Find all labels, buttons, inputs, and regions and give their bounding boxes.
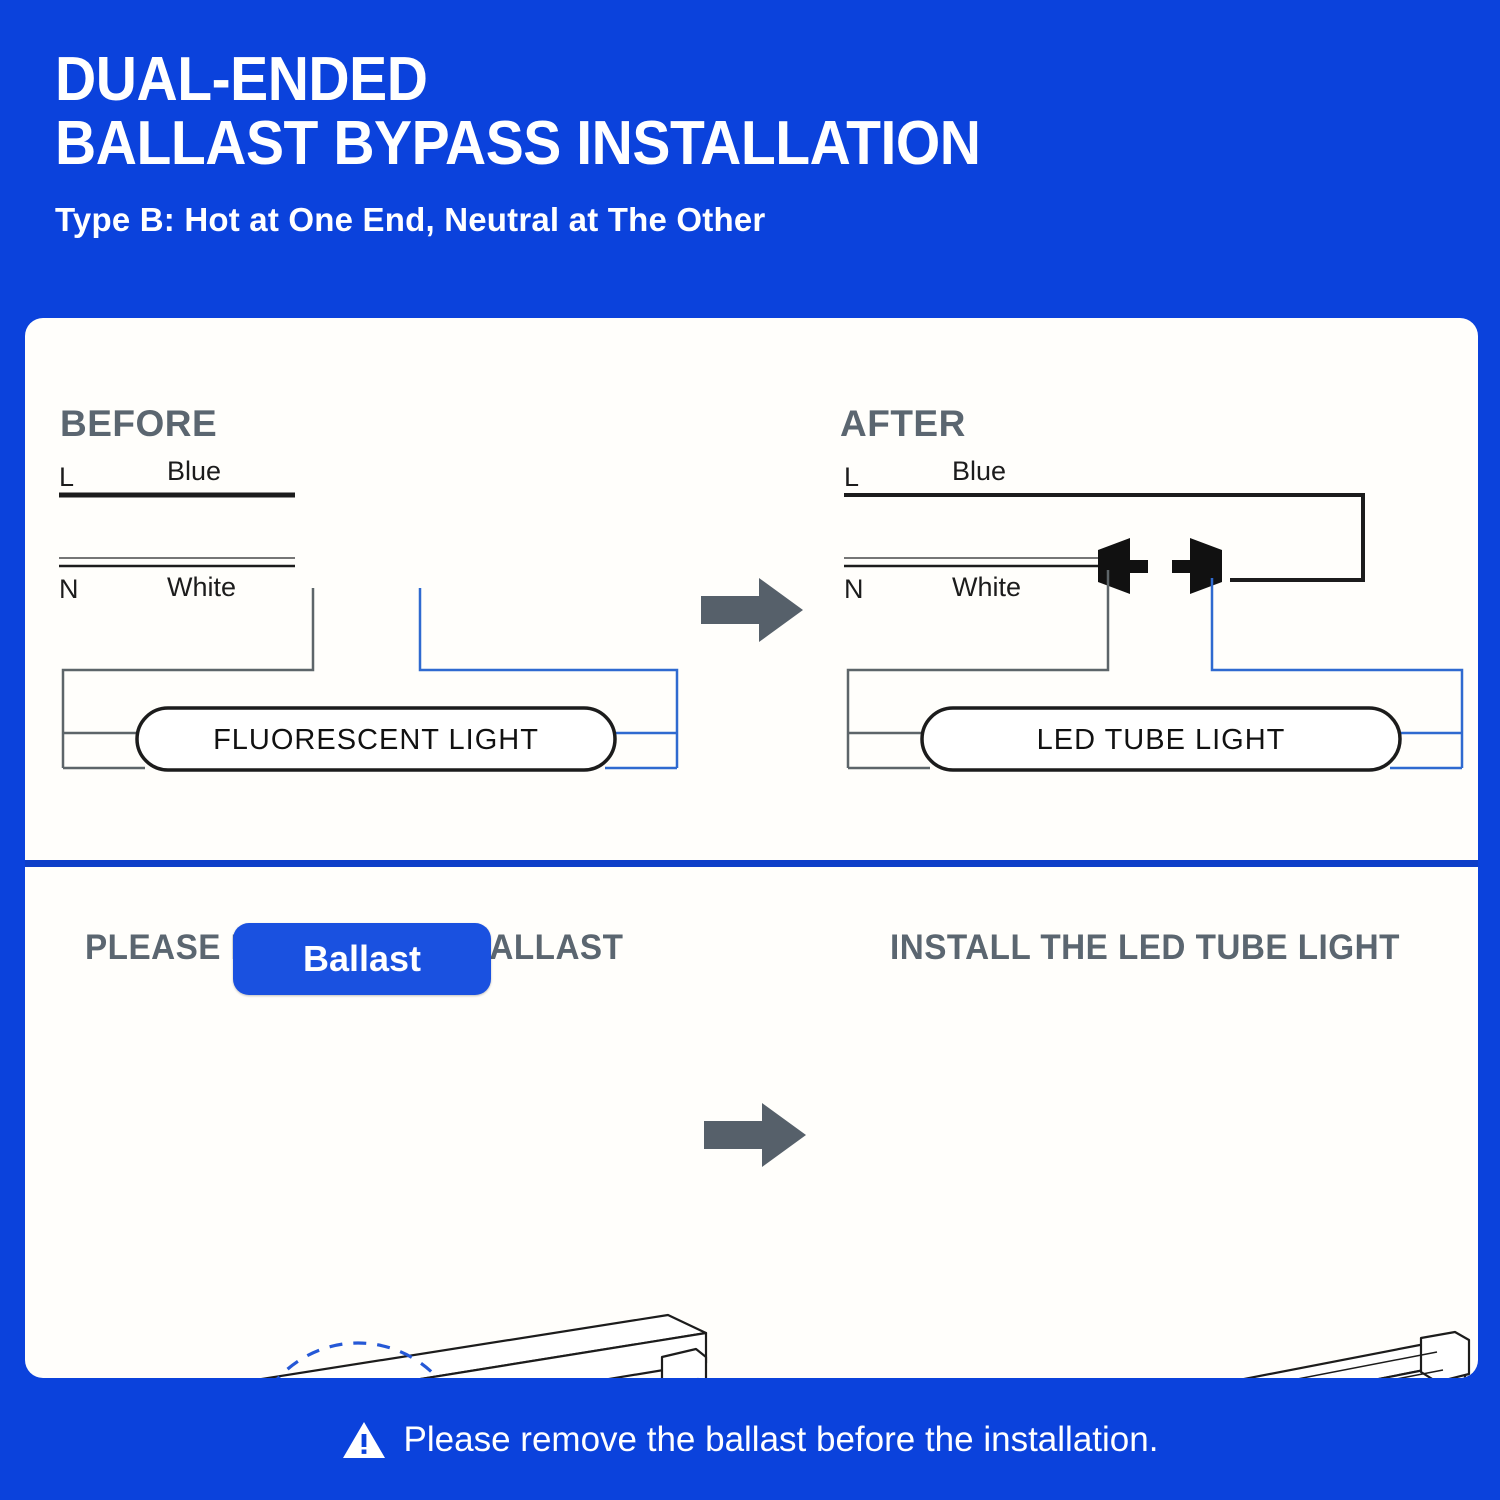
footer-warning: Please remove the ballast before the ins… bbox=[0, 1400, 1500, 1480]
disconnected-connector-left bbox=[1098, 538, 1148, 594]
page-title-line1: DUAL-ENDED bbox=[55, 48, 1297, 112]
ballast-badge: Ballast bbox=[233, 923, 491, 995]
fluorescent-lamp-label: FLUORESCENT LIGHT bbox=[213, 724, 539, 756]
content-panel: BEFORE AFTER PLEASE REMOVE THE BALLAST I… bbox=[25, 318, 1478, 1378]
after-label-l: L bbox=[844, 462, 859, 492]
after-label-white: White bbox=[952, 572, 1021, 602]
install-tube-heading: INSTALL THE LED TUBE LIGHT bbox=[890, 928, 1400, 968]
led-tube-lamp-label: LED TUBE LIGHT bbox=[1037, 724, 1286, 756]
arrow-right-icon-bottom bbox=[700, 1095, 810, 1175]
page-title-line2: BALLAST BYPASS INSTALLATION bbox=[55, 112, 1297, 176]
install-tube-illustration bbox=[825, 1318, 1478, 1378]
after-wiring-diagram: L Blue N White LED TUBE LIG bbox=[830, 438, 1478, 838]
before-label-white: White bbox=[167, 572, 236, 602]
before-label-blue: Blue bbox=[167, 456, 221, 486]
page-subtitle: Type B: Hot at One End, Neutral at The O… bbox=[55, 201, 1405, 239]
header: DUAL-ENDED BALLAST BYPASS INSTALLATION T… bbox=[55, 48, 1405, 239]
remove-ballast-illustration bbox=[70, 1293, 730, 1378]
panel-divider bbox=[25, 860, 1478, 867]
after-label-n: N bbox=[844, 574, 864, 604]
before-wiring-diagram: L Blue N White FLUORESCENT LIGHT bbox=[45, 438, 705, 838]
footer-warning-text: Please remove the ballast before the ins… bbox=[404, 1420, 1159, 1460]
after-label-blue: Blue bbox=[952, 456, 1006, 486]
disconnected-connector-right bbox=[1172, 538, 1222, 594]
before-label-n: N bbox=[59, 574, 79, 604]
poster-root: DUAL-ENDED BALLAST BYPASS INSTALLATION T… bbox=[0, 0, 1500, 1500]
before-label-l: L bbox=[59, 462, 74, 492]
arrow-right-icon-top bbox=[697, 570, 807, 650]
warning-triangle-icon-footer bbox=[342, 1420, 386, 1460]
